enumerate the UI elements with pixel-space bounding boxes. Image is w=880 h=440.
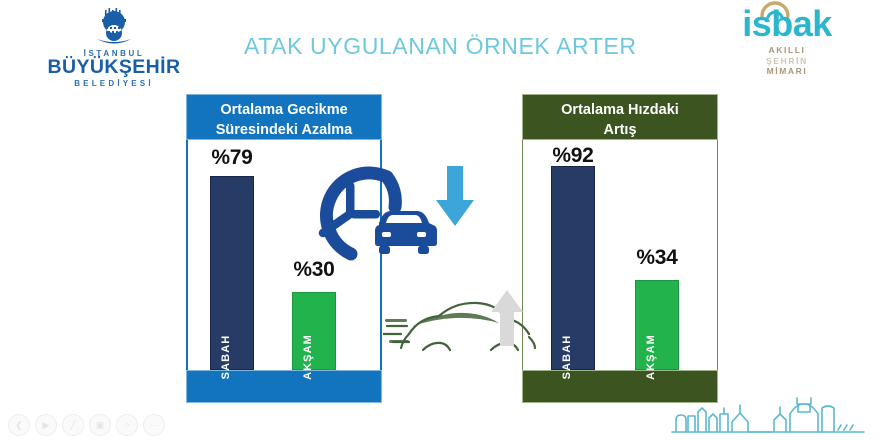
bar-value-right-sabah: %92 [552, 144, 593, 168]
share-icon[interactable]: ❮ [8, 414, 30, 436]
play-icon[interactable]: ▶ [35, 414, 57, 436]
page-title: ATAK UYGULANAN ÖRNEK ARTER [244, 33, 664, 60]
bar-value-left-sabah: %79 [211, 146, 252, 170]
car-glyph-icon [375, 211, 437, 254]
isbak-tagline: AKILLI ŞEHRİN MİMARI [722, 45, 852, 77]
bar-label-right-aksam: AKŞAM [645, 334, 657, 380]
istanbul-skyline-icon [668, 392, 868, 438]
presentation-toolbar[interactable]: ❮ ▶ ╱ ▣ ○ ··· [8, 414, 165, 436]
up-arrow-icon [489, 288, 525, 348]
panel-right-title-line2: Artış [527, 121, 713, 141]
bar-label-left-aksam: AKŞAM [302, 334, 314, 380]
pen-icon[interactable]: ╱ [62, 414, 84, 436]
ibb-logo-line3: BELEDİYESİ [44, 79, 184, 88]
panel-left-title-line1: Ortalama Gecikme [191, 101, 377, 121]
bar-value-right-aksam: %34 [636, 246, 677, 270]
panel-right-chart: %92 SABAH %34 AKŞAM [522, 140, 718, 370]
istanbul-municipality-emblem-icon [91, 8, 137, 48]
isbak-wordmark: isbak [742, 6, 832, 42]
ibb-logo: İSTANBUL BÜYÜKŞEHİR BELEDİYESİ [44, 8, 184, 90]
isbak-tagline-line3: MİMARI [722, 66, 852, 77]
down-arrow-icon [433, 166, 477, 228]
bar-label-left-sabah: SABAH [220, 335, 232, 380]
isbak-logo: isbak AKILLI ŞEHRİN MİMARI [722, 6, 852, 92]
isbak-tagline-line1: AKILLI [722, 45, 852, 56]
panel-speed-increase: Ortalama Hızdaki Artış %92 SABAH %34 AKŞ… [522, 94, 718, 403]
panel-left-footer [186, 370, 382, 403]
panel-right-header: Ortalama Hızdaki Artış [522, 94, 718, 140]
bar-fill-right-aksam: AKŞAM [635, 280, 679, 370]
more-icon[interactable]: ··· [143, 414, 165, 436]
panel-left-title-line2: Süresindeki Azalma [191, 121, 377, 141]
bar-right-aksam: AKŞAM [635, 280, 679, 370]
bar-fill-left-aksam: AKŞAM [292, 292, 336, 370]
bar-fill-right-sabah: SABAH [551, 166, 595, 370]
bar-left-sabah: SABAH [210, 176, 254, 370]
bar-left-aksam: AKŞAM [292, 292, 336, 370]
present-icon[interactable]: ▣ [89, 414, 111, 436]
bar-right-sabah: SABAH [551, 166, 595, 370]
zoom-icon[interactable]: ○ [116, 414, 138, 436]
clock-and-car-icon [283, 160, 443, 270]
bar-label-right-sabah: SABAH [561, 335, 573, 380]
panel-left-header: Ortalama Gecikme Süresindeki Azalma [186, 94, 382, 140]
ibb-logo-line2: BÜYÜKŞEHİR [44, 58, 184, 78]
isbak-tagline-line2: ŞEHRİN [722, 56, 852, 67]
bar-fill-left-sabah: SABAH [210, 176, 254, 370]
panel-right-title-line1: Ortalama Hızdaki [527, 101, 713, 121]
